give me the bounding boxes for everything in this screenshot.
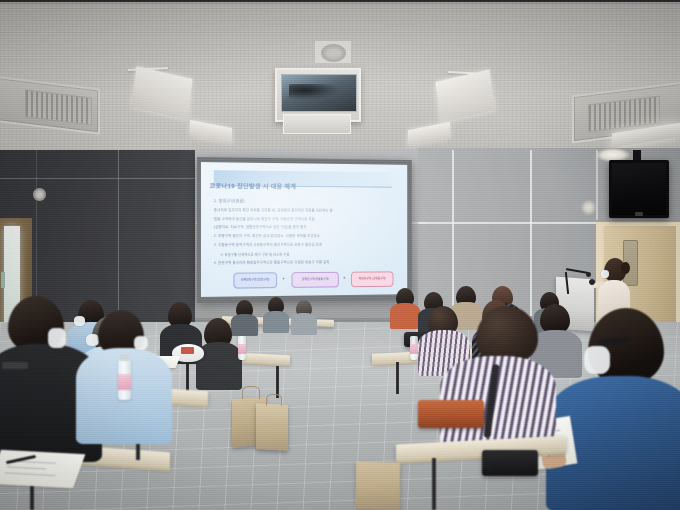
presenter-hair-bun: [621, 262, 630, 274]
projector-icon: [281, 74, 357, 112]
table-leg: [396, 362, 399, 394]
wall-panel-seam: [36, 150, 37, 350]
attendee-body: [231, 314, 258, 336]
slide-bullet: 법을 고려하여 동선을 분리시켜 확진자 구역, 비확진자 구역으로 지정: [214, 217, 315, 222]
attendee-body: [291, 313, 317, 335]
slide-bullet: 1. 발생규모(총괄): [214, 199, 245, 205]
attendee-body: [530, 330, 582, 378]
flow-connector: +: [343, 276, 345, 281]
attendee-body: [263, 311, 289, 333]
projection-screen: 코로나19 집단발생 시 대응 체계 1. 발생규모(총괄) 종사자와 입주자의…: [197, 157, 412, 303]
flow-connector: +: [282, 277, 285, 282]
ceiling-speaker-icon: [321, 44, 346, 62]
flow-box-1: 비확진자구역 (안전구역): [233, 272, 277, 288]
slide-bullet: (입원치료, 치료구역, 생활안전구역으로 공간 구분)을 원칙 원칙: [214, 225, 307, 230]
presenter-mask: [601, 270, 609, 278]
slide-bullet: 4. 안전구역 종사자의 행정업무구역으로 활동구역으로 오염된 보호구 착용 …: [214, 260, 330, 266]
wall-speaker-right-icon: [581, 200, 596, 215]
flow-box-3: 확진자구역 (고위험구역): [351, 271, 393, 287]
attendee-body: [418, 330, 470, 376]
paper-bag: [256, 403, 288, 451]
microphone-icon: [586, 272, 591, 277]
wall-speaker-icon: [33, 188, 46, 201]
slide-bullet: 2. 보행구역 확진자 구역, 확진자 검사/분리장소, 사용한 세탁물 보관장…: [214, 234, 320, 239]
wall-panel-seam: [530, 150, 532, 320]
slide-bullet: 3. 주활동구역 방역구역과 고위험구역의 중간구역으로 보호구 탈의실 운영: [214, 243, 322, 248]
water-bottle: [124, 340, 132, 366]
slide-title: 코로나19 집단발생 시 대응 체계: [210, 181, 297, 191]
flow-box-2: 준확진구역(주활동구역): [292, 271, 339, 287]
attendee-mask: [74, 316, 85, 326]
projected-slide: 코로나19 집단발생 시 대응 체계 1. 발생규모(총괄) 종사자와 입주자의…: [201, 162, 407, 297]
ceiling-seam: [0, 3, 680, 4]
attendee-mask: [86, 334, 99, 346]
paper-bag-handle: [266, 394, 282, 406]
projector-body: [283, 114, 351, 134]
tv-logo: [635, 212, 643, 216]
attendee-body: [390, 303, 420, 329]
attendee-body: [80, 346, 142, 402]
handheld-microphone-icon: [589, 279, 595, 285]
bottle-cap: [125, 336, 131, 341]
table-leg: [186, 362, 189, 396]
lecture-room-photo: 코로나19 집단발생 시 대응 체계 1. 발생규모(총괄) 종사자와 입주자의…: [0, 0, 680, 510]
tv-screen: [612, 163, 666, 215]
slide-bullet: ※ 보호구를 단계적으로 제거 구분 및 대소변 수용: [220, 251, 289, 256]
presenter-body: [598, 280, 630, 324]
door-left-handle-icon[interactable]: [1, 272, 5, 288]
handout-papers: [136, 356, 181, 368]
slide-bullet: 종사자와 입주자의 확진 여부를 고려할 때, 감염병의 합리적인 전파를 차단…: [214, 208, 333, 213]
water-bottle: [410, 336, 418, 360]
wall-tv: [609, 160, 669, 218]
water-bottle: [238, 336, 246, 360]
wall-panel-seam: [452, 150, 454, 322]
paper-bag-handle: [242, 386, 260, 399]
wall-panel-seam: [0, 178, 205, 179]
attendee-body: [472, 326, 524, 374]
cap-logo: [181, 347, 194, 354]
